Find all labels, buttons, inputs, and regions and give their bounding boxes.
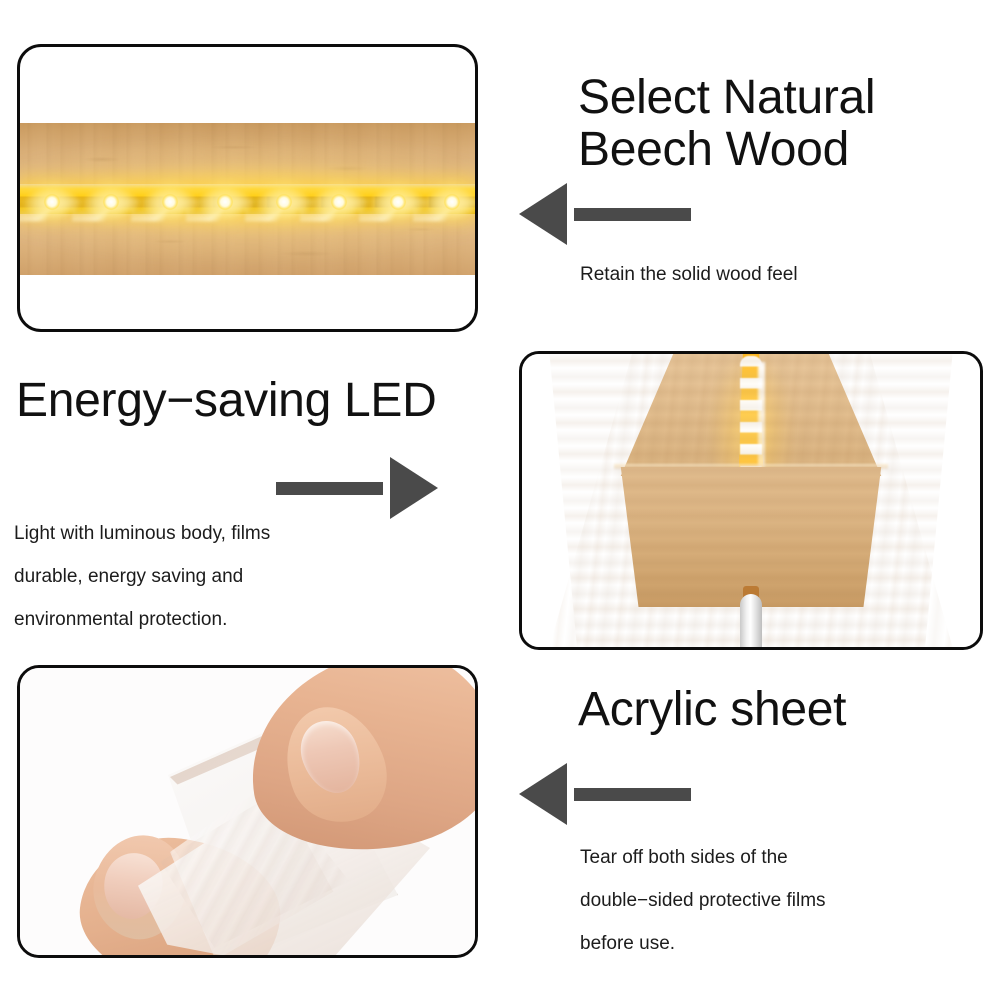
led-strip-scene [20,123,475,275]
arrow-right-energy-saving-led [276,457,438,519]
led-dot [331,194,347,210]
led-dot [44,194,60,210]
arrow-head-left-icon [519,183,567,245]
headline-beech-wood: Select Natural Beech Wood [578,72,978,176]
led-dot [217,194,233,210]
arrow-left-beech-wood [519,183,691,245]
arrow-left-acrylic-sheet [519,763,691,825]
led-dot [162,194,178,210]
arrow-shaft [574,788,691,801]
led-dot [276,194,292,210]
arrow-head-right-icon [390,457,438,519]
photo-card-acrylic-sheet [17,665,478,958]
arrow-shaft [574,208,691,221]
acrylic-peel-scene [20,668,475,955]
led-dot [103,194,119,210]
headline-acrylic-sheet: Acrylic sheet [578,684,998,736]
headline-energy-saving-led: Energy−saving LED [16,375,496,427]
subtext-energy-saving-led: Light with luminous body, films durable,… [14,512,414,641]
led-dot [390,194,406,210]
wood-block-scene [522,354,980,647]
photo-card-wood-block [519,351,983,650]
power-cable [740,594,762,647]
led-strip-pcb [20,197,475,208]
subtext-acrylic-sheet: Tear off both sides of the double−sided … [580,836,980,965]
infographic-page: Select Natural Beech Wood Retain the sol… [0,0,1000,1000]
arrow-head-left-icon [519,763,567,825]
arrow-shaft [276,482,383,495]
subtext-beech-wood: Retain the solid wood feel [580,253,980,296]
photo-card-led-strip [17,44,478,332]
led-dot [444,194,460,210]
